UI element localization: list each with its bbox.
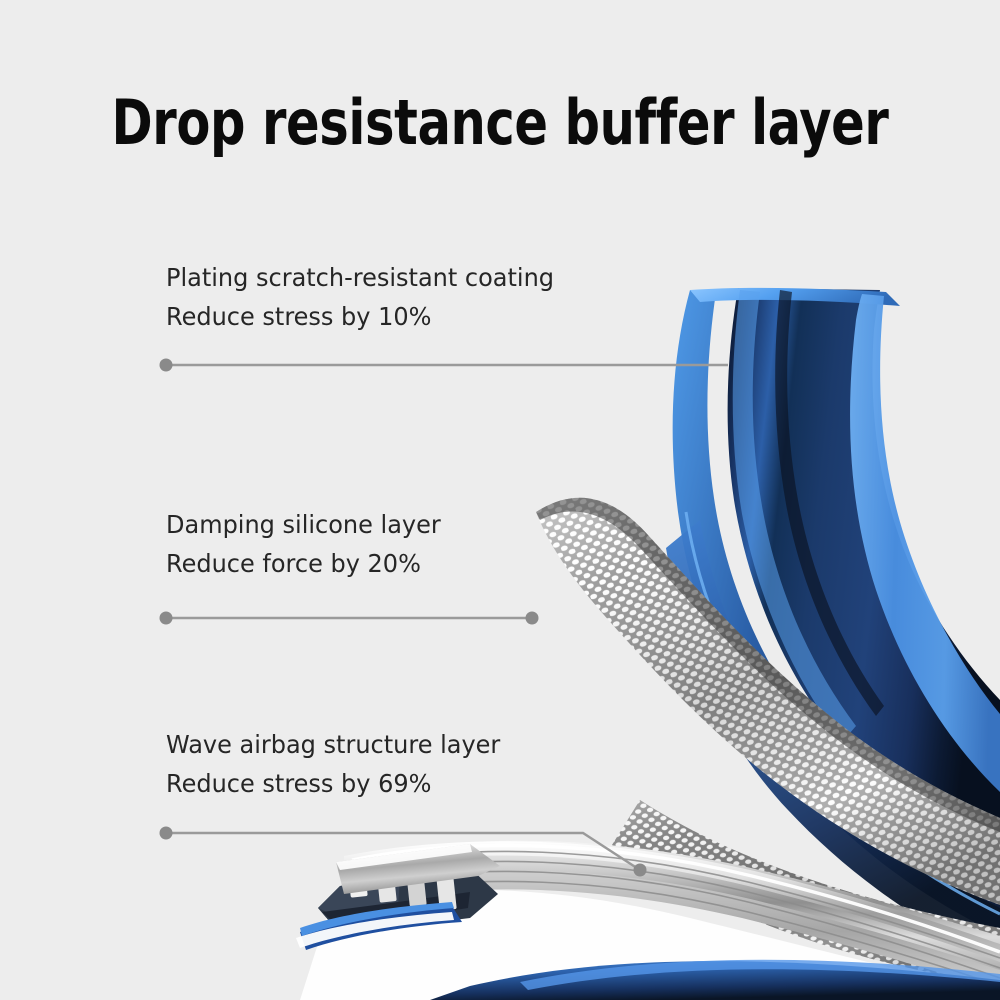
callout-wave-airbag: Wave airbag structure layer Reduce stres… [166,725,500,803]
callout-damping-silicone: Damping silicone layer Reduce force by 2… [166,505,441,583]
page-title: Drop resistance buffer layer [100,92,900,154]
callout-1-line-1: Plating scratch-resistant coating [166,258,554,297]
infographic-poster: Drop resistance buffer layer Plating scr… [0,0,1000,1000]
callout-2-line-2: Reduce force by 20% [166,544,441,583]
callout-1-line-2: Reduce stress by 10% [166,297,554,336]
callout-3-line-1: Wave airbag structure layer [166,725,500,764]
callout-3-line-2: Reduce stress by 69% [166,764,500,803]
callout-2-line-1: Damping silicone layer [166,505,441,544]
callout-plating-coating: Plating scratch-resistant coating Reduce… [166,258,554,336]
